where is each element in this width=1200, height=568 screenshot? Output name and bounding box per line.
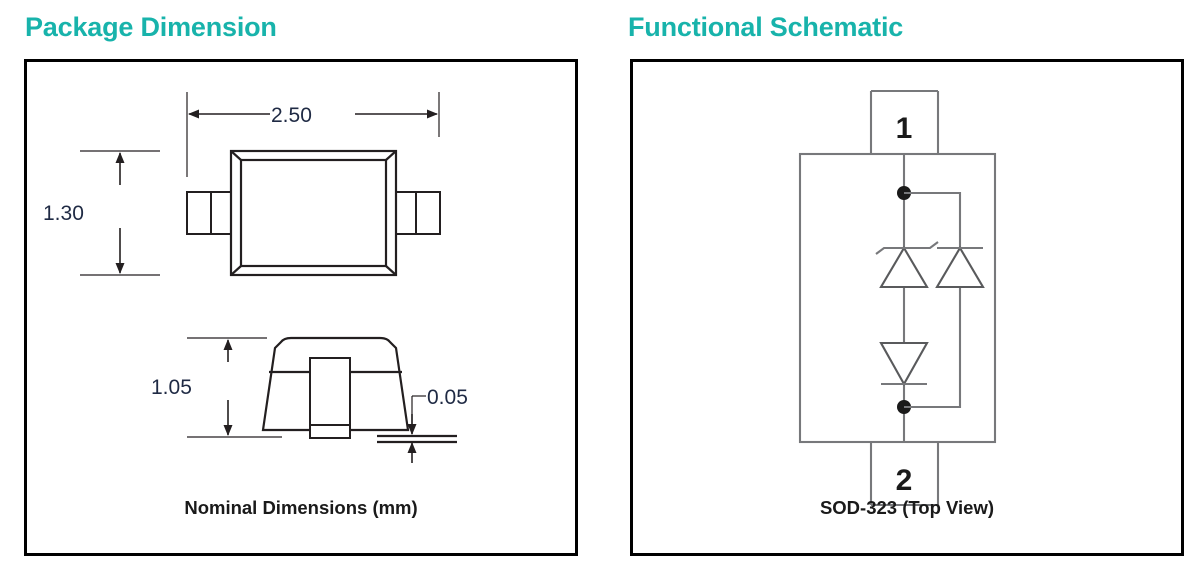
- height-dimension-label: 1.30: [43, 202, 84, 225]
- pin-2-label: 2: [896, 464, 913, 497]
- package-body-top-view: [231, 151, 396, 275]
- pin-2-terminal: 2: [871, 442, 938, 505]
- internal-circuit: [876, 154, 983, 442]
- right-lead: [392, 192, 440, 234]
- top-view-drawing: 2.50 1.30: [43, 92, 440, 275]
- height-dimension: 1.30: [43, 151, 160, 275]
- diode-icon-right: [937, 248, 983, 287]
- width-dimension-label: 2.50: [271, 104, 312, 127]
- side-view-drawing: 1.05: [151, 338, 468, 463]
- datasheet-figure-page: Package Dimension Functional Schematic: [0, 0, 1200, 568]
- functional-schematic-panel: 1 2: [630, 59, 1184, 556]
- standoff-dimension-label: 0.05: [427, 386, 468, 409]
- zener-diode-icon: [876, 242, 938, 287]
- functional-schematic-caption: SOD-323 (Top View): [633, 497, 1181, 519]
- device-outline-rect: [800, 154, 995, 442]
- diode-icon-left: [881, 343, 927, 384]
- body-height-dimension: 1.05: [151, 338, 282, 437]
- side-view-lead: [310, 358, 350, 438]
- functional-schematic-drawing: 1 2: [633, 62, 1181, 553]
- package-dimension-caption: Nominal Dimensions (mm): [27, 497, 575, 519]
- package-dimension-panel: 2.50 1.30: [24, 59, 578, 556]
- pin-1-terminal: 1: [871, 91, 938, 154]
- package-dimension-title: Package Dimension: [25, 14, 277, 41]
- left-lead: [187, 192, 235, 234]
- body-height-dimension-label: 1.05: [151, 376, 192, 399]
- pin-1-label: 1: [896, 112, 913, 145]
- package-dimension-drawing: 2.50 1.30: [27, 62, 575, 553]
- functional-schematic-title: Functional Schematic: [628, 14, 903, 41]
